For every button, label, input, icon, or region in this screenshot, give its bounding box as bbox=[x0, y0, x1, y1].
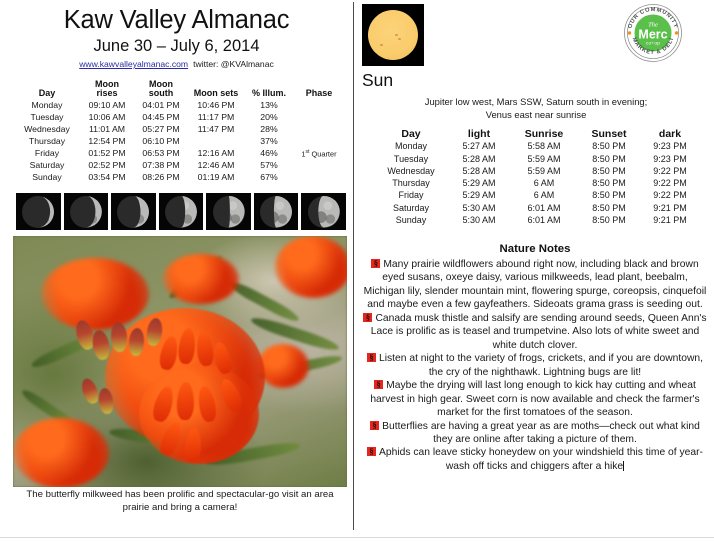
almanac-page: Kaw Valley Almanac June 30 – July 6, 201… bbox=[0, 0, 714, 544]
moon-phase-image bbox=[301, 193, 346, 230]
table-row: Saturday5:30 AM6:01 AM8:50 PM9:21 PM bbox=[374, 202, 700, 214]
moon-col-south: Moon south bbox=[134, 80, 188, 100]
moon-table: Day Moon rises Moon south Moon sets bbox=[14, 80, 344, 184]
sun-cell-day: Monday bbox=[374, 141, 448, 153]
moon-cell-illum: 28% bbox=[244, 124, 294, 136]
sun-cell-day: Wednesday bbox=[374, 166, 448, 178]
moon-cell-day: Saturday bbox=[14, 160, 80, 172]
sun-col-light: light bbox=[448, 128, 510, 141]
moon-cell-illum: 37% bbox=[244, 136, 294, 148]
table-row: Thursday5:29 AM6 AM8:50 PM9:22 PM bbox=[374, 178, 700, 190]
sun-cell-sunset: 8:50 PM bbox=[578, 166, 640, 178]
sun-cell-light: 5:30 AM bbox=[448, 202, 510, 214]
sun-cell-dark: 9:22 PM bbox=[640, 190, 700, 202]
moon-phase-strip bbox=[16, 193, 346, 230]
left-column: Kaw Valley Almanac June 30 – July 6, 201… bbox=[0, 0, 353, 544]
merc-coop-logo: OUR COMMUNITY MARKET & DELI The Merc co+… bbox=[623, 3, 683, 63]
moon-table-body: Monday09:10 AM04:01 PM10:46 PM13%Tuesday… bbox=[14, 100, 344, 183]
table-row: Wednesday11:01 AM05:27 PM11:47 PM28% bbox=[14, 124, 344, 136]
table-row: Friday5:29 AM6 AM8:50 PM9:22 PM bbox=[374, 190, 700, 202]
moon-cell-rises: 11:01 AM bbox=[80, 124, 134, 136]
moon-cell-south: 06:10 PM bbox=[134, 136, 188, 148]
moon-cell-south: 04:01 PM bbox=[134, 100, 188, 112]
table-row: Friday01:52 PM06:53 PM12:16 AM46%1st Qua… bbox=[14, 148, 344, 160]
moon-cell-south: 08:26 PM bbox=[134, 171, 188, 183]
moon-col-illum-bottom: % Illum. bbox=[244, 89, 294, 99]
moon-cell-phase bbox=[294, 160, 344, 172]
sun-cell-sunset: 8:50 PM bbox=[578, 141, 640, 153]
nature-note-item: §Many prairie wildflowers abound right n… bbox=[361, 258, 709, 312]
moon-table-header: Day Moon rises Moon south Moon sets bbox=[14, 80, 344, 100]
moon-cell-phase bbox=[294, 171, 344, 183]
planet-note-line-1: Jupiter low west, Mars SSW, Saturn south… bbox=[368, 96, 704, 109]
nature-note-item: §Maybe the drying will last long enough … bbox=[361, 379, 709, 419]
moon-cell-sets: 01:19 AM bbox=[188, 171, 244, 183]
moon-cell-rises: 10:06 AM bbox=[80, 112, 134, 124]
blurred-bloom bbox=[41, 258, 149, 330]
sun-cell-dark: 9:22 PM bbox=[640, 178, 700, 190]
sun-cell-sunrise: 6:01 AM bbox=[510, 202, 578, 214]
moon-cell-day: Tuesday bbox=[14, 112, 80, 124]
twitter-handle: twitter: @KVAlmanac bbox=[193, 59, 274, 69]
moon-col-day: Day bbox=[14, 80, 80, 100]
website-link[interactable]: www.kawvalleyalmanac.com bbox=[79, 59, 188, 69]
note-bullet-icon: § bbox=[363, 313, 372, 322]
svg-text:co+op: co+op bbox=[646, 42, 660, 47]
moon-cell-phase bbox=[294, 136, 344, 148]
sun-cell-dark: 9:22 PM bbox=[640, 166, 700, 178]
moon-cell-rises: 02:52 PM bbox=[80, 160, 134, 172]
moon-phase-image bbox=[16, 193, 61, 230]
sun-cell-sunrise: 6 AM bbox=[510, 190, 578, 202]
right-column: OUR COMMUNITY MARKET & DELI The Merc co+… bbox=[354, 0, 714, 544]
nature-notes-list: §Many prairie wildflowers abound right n… bbox=[361, 258, 709, 474]
moon-cell-south: 06:53 PM bbox=[134, 148, 188, 160]
nature-notes-heading: Nature Notes bbox=[361, 243, 709, 257]
nature-note-item: §Canada musk thistle and salsify are sen… bbox=[361, 312, 709, 352]
sun-cell-sunset: 8:50 PM bbox=[578, 215, 640, 227]
moon-cell-phase bbox=[294, 112, 344, 124]
moon-table-header-row: Day Moon rises Moon south Moon sets bbox=[14, 80, 344, 100]
sun-cell-dark: 9:21 PM bbox=[640, 215, 700, 227]
blurred-bloom bbox=[275, 236, 347, 298]
sun-col-dark: dark bbox=[640, 128, 700, 141]
moon-col-phase-bottom: Phase bbox=[294, 89, 344, 99]
text-caret bbox=[623, 461, 624, 471]
date-range: June 30 – July 6, 2014 bbox=[0, 38, 353, 55]
sun-cell-sunrise: 5:58 AM bbox=[510, 141, 578, 153]
table-row: Monday5:27 AM5:58 AM8:50 PM9:23 PM bbox=[374, 141, 700, 153]
moon-cell-illum: 67% bbox=[244, 171, 294, 183]
sun-disc bbox=[368, 10, 418, 60]
nature-notes-section: Nature Notes §Many prairie wildflowers a… bbox=[361, 243, 709, 473]
sun-table: Day light Sunrise Sunset dark Monday5:27… bbox=[374, 128, 700, 227]
sun-table-header-row: Day light Sunrise Sunset dark bbox=[374, 128, 700, 141]
blurred-bloom bbox=[163, 254, 239, 304]
moon-col-phase: Phase bbox=[294, 80, 344, 100]
moon-col-rises-bottom: rises bbox=[80, 89, 134, 99]
moon-cell-rises: 03:54 PM bbox=[80, 171, 134, 183]
sun-cell-sunrise: 5:59 AM bbox=[510, 153, 578, 165]
moon-phase-image bbox=[64, 193, 109, 230]
table-row: Monday09:10 AM04:01 PM10:46 PM13% bbox=[14, 100, 344, 112]
sun-cell-sunset: 8:50 PM bbox=[578, 190, 640, 202]
sun-cell-day: Saturday bbox=[374, 202, 448, 214]
sun-cell-light: 5:29 AM bbox=[448, 190, 510, 202]
sun-cell-dark: 9:21 PM bbox=[640, 202, 700, 214]
sun-table-body: Monday5:27 AM5:58 AM8:50 PM9:23 PMTuesda… bbox=[374, 141, 700, 227]
note-bullet-icon: § bbox=[371, 259, 380, 268]
sun-photo bbox=[362, 4, 424, 66]
butterfly-milkweed-photo bbox=[13, 236, 347, 487]
moon-phase-image bbox=[159, 193, 204, 230]
sun-cell-light: 5:28 AM bbox=[448, 153, 510, 165]
moon-phase-image bbox=[111, 193, 156, 230]
moon-cell-south: 04:45 PM bbox=[134, 112, 188, 124]
note-bullet-icon: § bbox=[374, 380, 383, 389]
sun-cell-light: 5:30 AM bbox=[448, 215, 510, 227]
moon-cell-rises: 12:54 PM bbox=[80, 136, 134, 148]
moon-cell-rises: 01:52 PM bbox=[80, 148, 134, 160]
sun-cell-light: 5:29 AM bbox=[448, 178, 510, 190]
note-bullet-icon: § bbox=[370, 421, 379, 430]
moon-cell-illum: 13% bbox=[244, 100, 294, 112]
sun-cell-sunrise: 5:59 AM bbox=[510, 166, 578, 178]
sunspot bbox=[380, 44, 383, 46]
sun-cell-sunset: 8:50 PM bbox=[578, 202, 640, 214]
moon-cell-rises: 09:10 AM bbox=[80, 100, 134, 112]
moon-cell-sets: 12:16 AM bbox=[188, 148, 244, 160]
sun-cell-sunrise: 6 AM bbox=[510, 178, 578, 190]
sun-cell-sunrise: 6:01 AM bbox=[510, 215, 578, 227]
moon-cell-illum: 57% bbox=[244, 160, 294, 172]
moon-col-day-bottom: Day bbox=[14, 89, 80, 99]
moon-cell-sets: 10:46 PM bbox=[188, 100, 244, 112]
moon-phase-image bbox=[206, 193, 251, 230]
nature-note-item: §Listen at night to the variety of frogs… bbox=[361, 352, 709, 379]
svg-text:Merc: Merc bbox=[638, 28, 667, 42]
moon-col-sets-bottom: Moon sets bbox=[188, 89, 244, 99]
sun-cell-sunset: 8:50 PM bbox=[578, 178, 640, 190]
moon-cell-illum: 20% bbox=[244, 112, 294, 124]
moon-col-rises: Moon rises bbox=[80, 80, 134, 100]
table-row: Sunday03:54 PM08:26 PM01:19 AM67% bbox=[14, 171, 344, 183]
moon-cell-day: Friday bbox=[14, 148, 80, 160]
moon-cell-south: 05:27 PM bbox=[134, 124, 188, 136]
sun-cell-sunset: 8:50 PM bbox=[578, 153, 640, 165]
moon-cell-sets bbox=[188, 136, 244, 148]
sun-cell-light: 5:28 AM bbox=[448, 166, 510, 178]
photo-caption: The butterfly milkweed has been prolific… bbox=[13, 489, 347, 515]
moon-cell-day: Wednesday bbox=[14, 124, 80, 136]
sun-table-header: Day light Sunrise Sunset dark bbox=[374, 128, 700, 141]
moon-cell-phase: 1st Quarter bbox=[294, 148, 344, 160]
sun-col-day: Day bbox=[374, 128, 448, 141]
moon-cell-day: Monday bbox=[14, 100, 80, 112]
table-row: Saturday02:52 PM07:38 PM12:46 AM57% bbox=[14, 160, 344, 172]
sun-heading: Sun bbox=[362, 72, 393, 90]
sunspot bbox=[398, 38, 401, 40]
moon-cell-illum: 46% bbox=[244, 148, 294, 160]
moon-col-illum: % Illum. bbox=[244, 80, 294, 100]
table-row: Tuesday5:28 AM5:59 AM8:50 PM9:23 PM bbox=[374, 153, 700, 165]
moon-cell-south: 07:38 PM bbox=[134, 160, 188, 172]
planet-note-line-2: Venus east near sunrise bbox=[368, 109, 704, 122]
moon-cell-day: Thursday bbox=[14, 136, 80, 148]
moon-cell-phase bbox=[294, 100, 344, 112]
moon-phase-image bbox=[254, 193, 299, 230]
sun-cell-dark: 9:23 PM bbox=[640, 141, 700, 153]
moon-cell-sets: 12:46 AM bbox=[188, 160, 244, 172]
moon-col-sets: Moon sets bbox=[188, 80, 244, 100]
table-row: Tuesday10:06 AM04:45 PM11:17 PM20% bbox=[14, 112, 344, 124]
sun-col-sunset: Sunset bbox=[578, 128, 640, 141]
masthead-links: www.kawvalleyalmanac.comtwitter: @KVAlma… bbox=[0, 60, 353, 69]
table-row: Sunday5:30 AM6:01 AM8:50 PM9:21 PM bbox=[374, 215, 700, 227]
nature-note-item: §Butterflies are having a great year as … bbox=[361, 420, 709, 447]
sunspot bbox=[395, 34, 398, 36]
sun-cell-day: Sunday bbox=[374, 215, 448, 227]
nature-note-item: §Aphids can leave sticky honeydew on you… bbox=[361, 446, 709, 473]
blurred-bloom bbox=[13, 418, 109, 487]
table-row: Wednesday5:28 AM5:59 AM8:50 PM9:22 PM bbox=[374, 166, 700, 178]
moon-cell-phase bbox=[294, 124, 344, 136]
planet-note: Jupiter low west, Mars SSW, Saturn south… bbox=[368, 96, 704, 122]
sun-cell-day: Friday bbox=[374, 190, 448, 202]
note-bullet-icon: § bbox=[367, 447, 376, 456]
moon-cell-sets: 11:47 PM bbox=[188, 124, 244, 136]
note-bullet-icon: § bbox=[367, 353, 376, 362]
sun-cell-dark: 9:23 PM bbox=[640, 153, 700, 165]
table-row: Thursday12:54 PM06:10 PM37% bbox=[14, 136, 344, 148]
sun-cell-light: 5:27 AM bbox=[448, 141, 510, 153]
moon-cell-day: Sunday bbox=[14, 171, 80, 183]
moon-cell-sets: 11:17 PM bbox=[188, 112, 244, 124]
sun-cell-day: Thursday bbox=[374, 178, 448, 190]
sun-col-sunrise: Sunrise bbox=[510, 128, 578, 141]
page-title: Kaw Valley Almanac bbox=[0, 7, 353, 34]
moon-col-south-bottom: south bbox=[134, 89, 188, 99]
sun-cell-day: Tuesday bbox=[374, 153, 448, 165]
